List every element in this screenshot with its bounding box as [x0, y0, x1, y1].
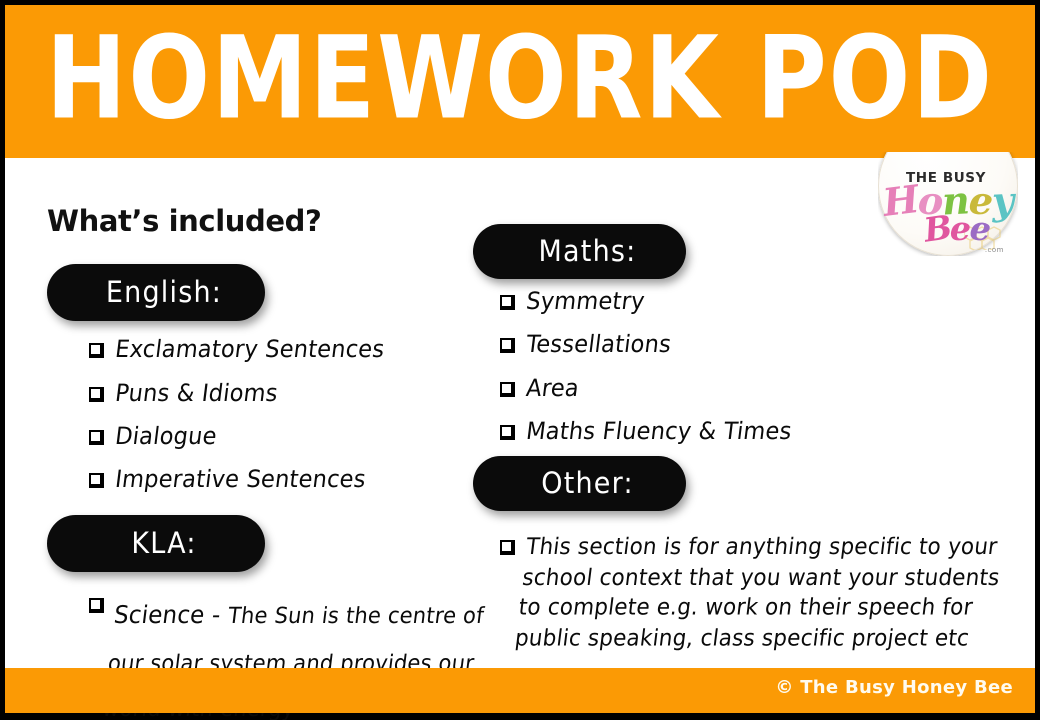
- list-item-label: Area: [525, 375, 581, 403]
- list-item[interactable]: Exclamatory Sentences: [89, 336, 386, 362]
- logo-text-group: THE BUSY Honey Bee .com: [878, 152, 1018, 256]
- list-item-label: Puns & Idioms: [114, 380, 280, 408]
- section-pill-label: English:: [106, 275, 222, 309]
- logo-letter: B: [921, 210, 952, 246]
- checkbox-icon[interactable]: [89, 473, 104, 488]
- list-item[interactable]: Puns & Idioms: [89, 380, 279, 406]
- checkbox-icon[interactable]: [89, 598, 104, 613]
- list-item[interactable]: Maths Fluency & Times: [500, 418, 793, 444]
- list-item-lead: Science -: [112, 602, 229, 630]
- list-item[interactable]: Area: [500, 375, 581, 401]
- list-item[interactable]: Tessellations: [500, 331, 673, 357]
- brand-logo[interactable]: THE BUSY Honey Bee .com: [878, 152, 1018, 256]
- section-pill-other: Other:: [473, 456, 686, 511]
- list-item-label: Maths Fluency & Times: [525, 418, 794, 446]
- list-item[interactable]: Symmetry: [500, 288, 646, 314]
- section-pill-label: KLA:: [131, 526, 196, 560]
- logo-domain-suffix: .com: [985, 246, 1004, 254]
- checkbox-icon[interactable]: [500, 338, 515, 353]
- slide-page: HOMEWORK POD THE BUSY Honey Bee .com: [0, 0, 1040, 720]
- list-item-label: Exclamatory Sentences: [114, 336, 386, 364]
- header-band: HOMEWORK POD: [5, 5, 1035, 158]
- checkbox-icon[interactable]: [89, 343, 104, 358]
- list-item-label: Dialogue: [114, 423, 219, 451]
- section-pill-label: Maths:: [539, 234, 637, 268]
- list-item[interactable]: Imperative Sentences: [89, 466, 367, 492]
- footer-band: © The Busy Honey Bee: [5, 668, 1035, 713]
- checkbox-icon[interactable]: [500, 382, 515, 397]
- logo-word-bee: Bee: [878, 212, 1018, 245]
- checkbox-icon[interactable]: [500, 295, 515, 310]
- checkbox-icon[interactable]: [89, 387, 104, 402]
- section-pill-english: English:: [47, 264, 265, 321]
- checkbox-icon[interactable]: [500, 540, 515, 555]
- page-subheading: What’s included?: [47, 204, 321, 238]
- section-pill-kla: KLA:: [47, 515, 265, 572]
- list-item-label: Tessellations: [525, 331, 673, 359]
- list-item-label: Imperative Sentences: [114, 466, 368, 494]
- list-item-label: This section is for anything specific to…: [513, 533, 1020, 654]
- list-item[interactable]: Dialogue: [89, 423, 218, 449]
- page-title: HOMEWORK POD: [10, 17, 1030, 141]
- list-item[interactable]: This section is for anything specific to…: [500, 533, 1020, 647]
- checkbox-icon[interactable]: [89, 430, 104, 445]
- checkbox-icon[interactable]: [500, 425, 515, 440]
- footer-credit: © The Busy Honey Bee: [775, 677, 1013, 698]
- logo-letter: e: [969, 211, 992, 246]
- list-item-label: Symmetry: [525, 288, 647, 316]
- section-pill-label: Other:: [541, 466, 634, 500]
- section-pill-maths: Maths:: [473, 224, 686, 279]
